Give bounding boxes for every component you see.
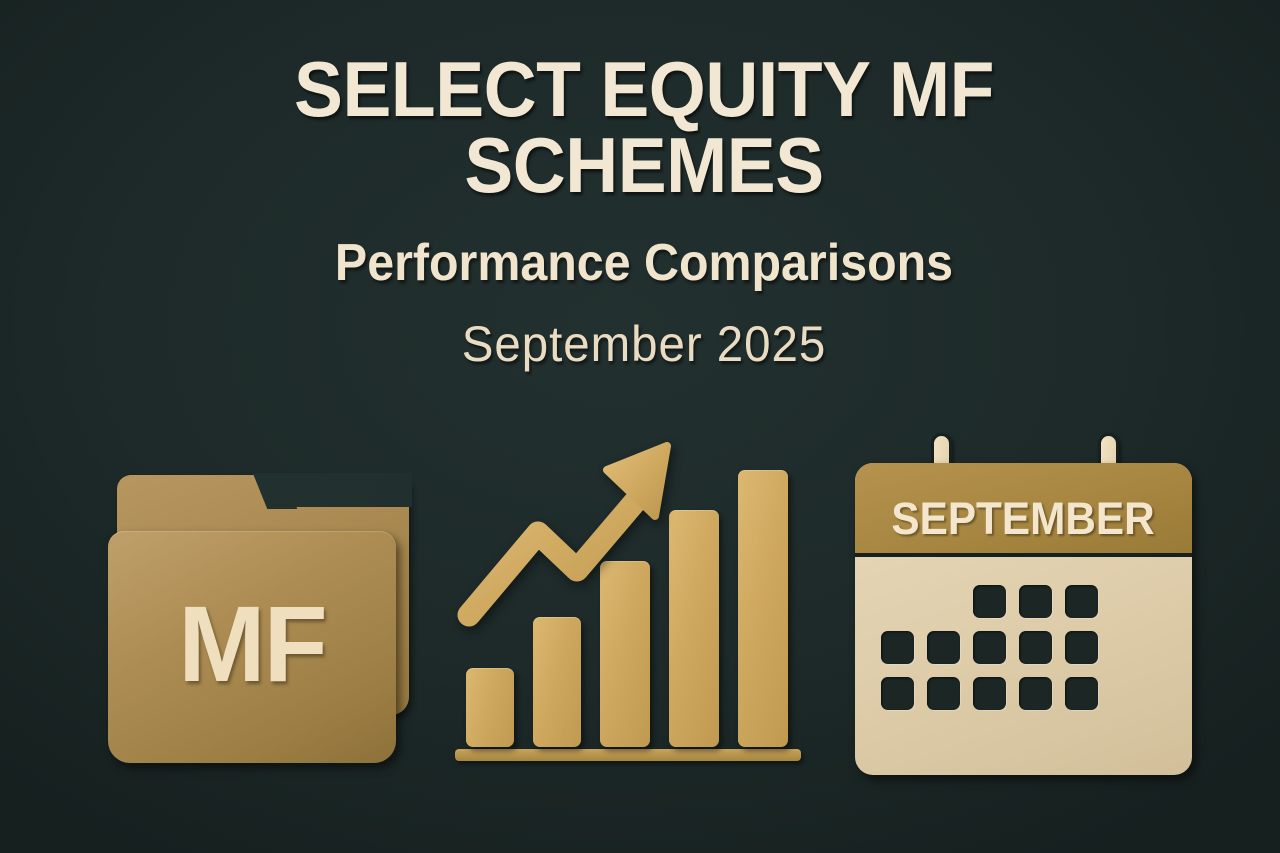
calendar-day-cell bbox=[1065, 631, 1098, 664]
calendar-day-cell bbox=[927, 677, 960, 710]
calendar-day-cell bbox=[1019, 677, 1052, 710]
icon-row: MF bbox=[0, 415, 1280, 795]
page-subtitle: Performance Comparisons bbox=[53, 233, 1236, 293]
calendar-day-cell bbox=[973, 677, 1006, 710]
calendar-day-cell bbox=[1019, 631, 1052, 664]
calendar-header: SEPTEMBER bbox=[855, 463, 1192, 557]
calendar-day-grid bbox=[881, 585, 1098, 710]
calendar-day-cell bbox=[973, 631, 1006, 664]
folder-label: MF bbox=[178, 581, 325, 706]
calendar-day-cell bbox=[1065, 585, 1098, 618]
folder-front-panel: MF bbox=[108, 531, 396, 763]
calendar-month-label: SEPTEMBER bbox=[892, 471, 1155, 545]
calendar-icon: SEPTEMBER bbox=[855, 433, 1195, 781]
calendar-day-cell bbox=[881, 677, 914, 710]
calendar-day-cell bbox=[973, 585, 1006, 618]
page-title: SELECT EQUITY MF SCHEMES bbox=[46, 52, 1242, 203]
growth-bar-chart-icon bbox=[455, 430, 815, 775]
trend-arrow-icon bbox=[455, 430, 815, 775]
folder-icon: MF bbox=[108, 475, 413, 767]
poster-canvas: SELECT EQUITY MF SCHEMES Performance Com… bbox=[0, 0, 1280, 853]
calendar-day-cell bbox=[927, 631, 960, 664]
calendar-day-cell bbox=[1019, 585, 1052, 618]
calendar-day-cell bbox=[1065, 677, 1098, 710]
headline-block: SELECT EQUITY MF SCHEMES Performance Com… bbox=[0, 52, 1280, 373]
calendar-day-cell-empty bbox=[881, 585, 914, 618]
calendar-day-cell-empty bbox=[927, 585, 960, 618]
calendar-day-cell bbox=[881, 631, 914, 664]
page-date: September 2025 bbox=[40, 315, 1248, 373]
